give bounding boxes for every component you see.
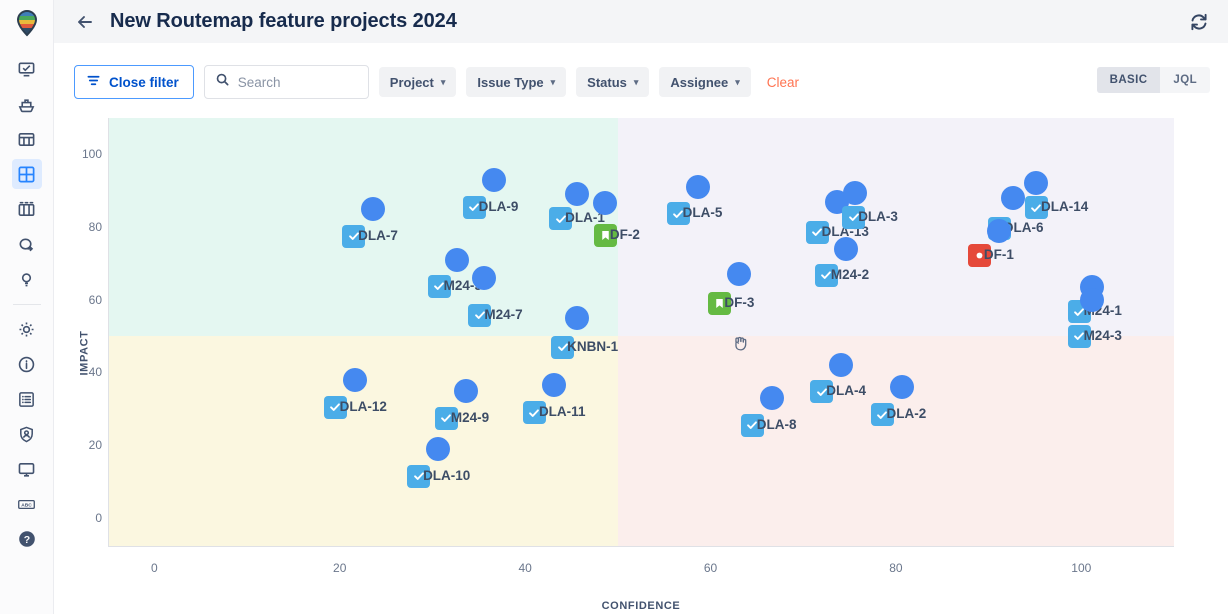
y-axis-tick: 0 xyxy=(74,511,102,525)
quadrant-fill-ins xyxy=(109,336,618,546)
y-axis-tick: 20 xyxy=(74,438,102,452)
scatter-point[interactable] xyxy=(1001,186,1025,210)
assignee-filter-label: Assignee xyxy=(670,75,728,90)
y-axis-tick: 40 xyxy=(74,365,102,379)
issue-key-label[interactable]: M24-9 xyxy=(451,410,489,425)
quadrant-thankless-tasks xyxy=(618,336,1174,546)
x-axis-tick: 60 xyxy=(704,561,717,575)
scatter-point[interactable] xyxy=(472,266,496,290)
issue-key-label[interactable]: DLA-7 xyxy=(358,228,398,243)
sidebar-item-columns[interactable] xyxy=(12,194,42,224)
app-root: ABC ? New Routemap feature projects 2024 xyxy=(0,0,1228,614)
page-title: New Routemap feature projects 2024 xyxy=(110,10,457,33)
x-axis-title: CONFIDENCE xyxy=(602,600,681,612)
scatter-point[interactable] xyxy=(834,237,858,261)
chevron-down-icon: ▾ xyxy=(551,77,556,88)
issue-key-label[interactable]: DF-3 xyxy=(724,295,754,310)
map-pin-logo[interactable] xyxy=(10,6,44,40)
plot-area[interactable]: DLA-7DLA-9DLA-1DF-2M24-5M24-7KNBN-1DLA-5… xyxy=(108,118,1174,547)
sidebar-item-settings[interactable] xyxy=(12,314,42,344)
sidebar-item-help[interactable]: ? xyxy=(12,524,42,554)
issue-key-label[interactable]: DF-1 xyxy=(984,247,1014,262)
search-icon xyxy=(215,72,230,92)
scatter-point[interactable] xyxy=(565,182,589,206)
scatter-point[interactable] xyxy=(593,191,617,215)
page-header: New Routemap feature projects 2024 xyxy=(54,0,1228,43)
y-axis-tick: 80 xyxy=(74,220,102,234)
issue-key-label[interactable]: KNBN-1 xyxy=(567,339,618,354)
scatter-point[interactable] xyxy=(482,168,506,192)
sidebar-item-abc[interactable]: ABC xyxy=(12,489,42,519)
sidebar-item-table[interactable] xyxy=(12,124,42,154)
sidebar-item-screen[interactable] xyxy=(12,454,42,484)
x-axis-tick: 40 xyxy=(518,561,531,575)
filter-icon xyxy=(86,73,101,91)
x-axis-tick: 0 xyxy=(151,561,158,575)
sidebar-item-boards[interactable] xyxy=(12,159,42,189)
svg-text:ABC: ABC xyxy=(21,502,32,508)
scatter-point[interactable] xyxy=(829,353,853,377)
issue-key-label[interactable]: DLA-3 xyxy=(858,209,898,224)
scatter-point[interactable] xyxy=(445,248,469,272)
scatter-point[interactable] xyxy=(727,262,751,286)
issue-key-label[interactable]: DLA-14 xyxy=(1041,199,1088,214)
y-axis-tick: 100 xyxy=(74,147,102,161)
issue-key-label[interactable]: M24-7 xyxy=(484,307,522,322)
svg-text:?: ? xyxy=(23,534,29,546)
chevron-down-icon: ▾ xyxy=(441,77,446,88)
scatter-point[interactable] xyxy=(361,197,385,221)
sidebar-item-lightbulb[interactable] xyxy=(12,264,42,294)
x-axis-tick: 80 xyxy=(889,561,902,575)
issue-key-label[interactable]: DLA-10 xyxy=(423,468,470,483)
filter-toolbar: Close filter Project ▾ Issue Type ▾ Stat xyxy=(54,43,1228,77)
mode-jql-button[interactable]: JQL xyxy=(1160,67,1210,93)
sidebar-item-dashboard[interactable] xyxy=(12,54,42,84)
scatter-point[interactable] xyxy=(987,219,1011,243)
chevron-down-icon: ▾ xyxy=(735,77,740,88)
scatter-point[interactable] xyxy=(1080,288,1104,312)
arrow-left-icon[interactable] xyxy=(72,9,98,35)
scatter-point[interactable] xyxy=(343,368,367,392)
issue-key-label[interactable]: DLA-8 xyxy=(757,417,797,432)
scatter-point[interactable] xyxy=(760,386,784,410)
issue-type-filter-label: Issue Type xyxy=(477,75,543,90)
scatter-point[interactable] xyxy=(686,175,710,199)
close-filter-label: Close filter xyxy=(109,75,179,90)
refresh-icon[interactable] xyxy=(1185,8,1212,35)
sidebar-item-ship[interactable] xyxy=(12,89,42,119)
chevron-down-icon: ▾ xyxy=(634,77,639,88)
sidebar-item-list[interactable] xyxy=(12,384,42,414)
status-filter-label: Status xyxy=(587,75,627,90)
issue-key-label[interactable]: M24-3 xyxy=(1084,328,1122,343)
sidebar-item-info[interactable] xyxy=(12,349,42,379)
scatter-point[interactable] xyxy=(426,437,450,461)
scatter-point[interactable] xyxy=(565,306,589,330)
issue-key-label[interactable]: DLA-5 xyxy=(683,205,723,220)
search-input[interactable] xyxy=(238,75,358,90)
sidebar-item-permissions[interactable] xyxy=(12,419,42,449)
query-mode-toggle: BASIC JQL xyxy=(1097,67,1210,93)
issue-key-label[interactable]: M24-2 xyxy=(831,267,869,282)
confidence-impact-scatter-chart: IMPACT CONFIDENCE DLA-7DLA-9DLA-1DF-2M24… xyxy=(54,92,1228,614)
sidebar-divider xyxy=(13,304,41,305)
sidebar-item-loop[interactable] xyxy=(12,229,42,259)
issue-key-label[interactable]: DLA-11 xyxy=(539,404,586,419)
issue-key-label[interactable]: DLA-4 xyxy=(826,383,866,398)
x-axis-tick: 20 xyxy=(333,561,346,575)
issue-key-label[interactable]: DLA-9 xyxy=(479,199,519,214)
scatter-point[interactable] xyxy=(890,375,914,399)
scatter-point[interactable] xyxy=(1024,171,1048,195)
left-sidebar: ABC ? xyxy=(0,0,54,614)
clear-filters-button[interactable]: Clear xyxy=(761,75,805,90)
project-filter-label: Project xyxy=(390,75,434,90)
issue-key-label[interactable]: DF-2 xyxy=(610,227,640,242)
scatter-point[interactable] xyxy=(843,181,867,205)
scatter-point[interactable] xyxy=(454,379,478,403)
x-axis-tick: 100 xyxy=(1071,561,1091,575)
scatter-point[interactable] xyxy=(542,373,566,397)
issue-key-label[interactable]: DLA-12 xyxy=(340,399,387,414)
mode-basic-button[interactable]: BASIC xyxy=(1097,67,1161,93)
issue-key-label[interactable]: DLA-2 xyxy=(887,406,927,421)
y-axis-tick: 60 xyxy=(74,293,102,307)
